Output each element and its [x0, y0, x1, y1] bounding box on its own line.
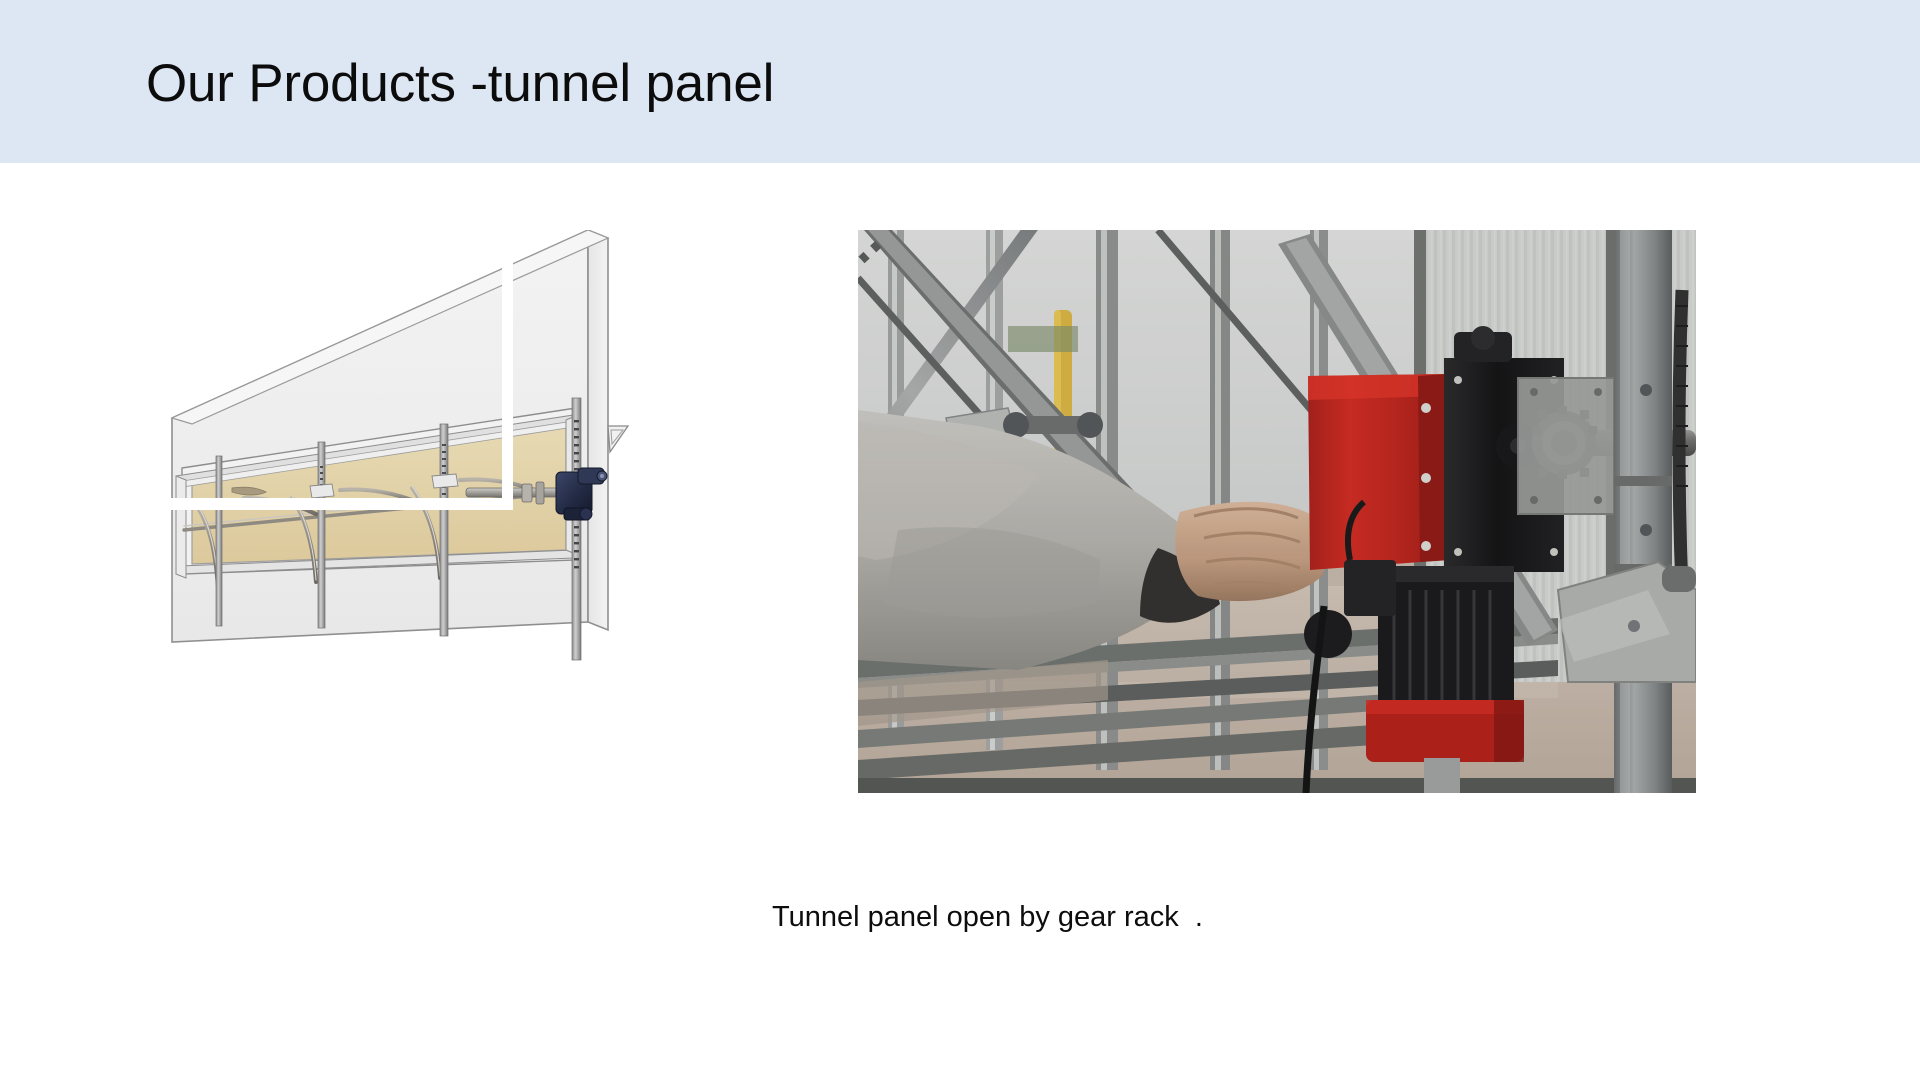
page-title: Our Products -tunnel panel	[146, 50, 774, 118]
tunnel-panel-cad-drawing	[140, 230, 760, 790]
gear-rack-post	[216, 456, 222, 626]
cad-drawing-canvas	[140, 230, 760, 790]
photo-caption: Tunnel panel open by gear rack .	[772, 898, 1203, 936]
title-banner: Our Products -tunnel panel	[0, 0, 1920, 163]
gear-rack-post	[318, 442, 325, 628]
gear-rack-post-drive	[572, 398, 581, 660]
gear-rack-drive-photo	[858, 230, 1696, 793]
photo-canvas	[858, 230, 1696, 793]
gear-rack-post	[440, 424, 448, 636]
